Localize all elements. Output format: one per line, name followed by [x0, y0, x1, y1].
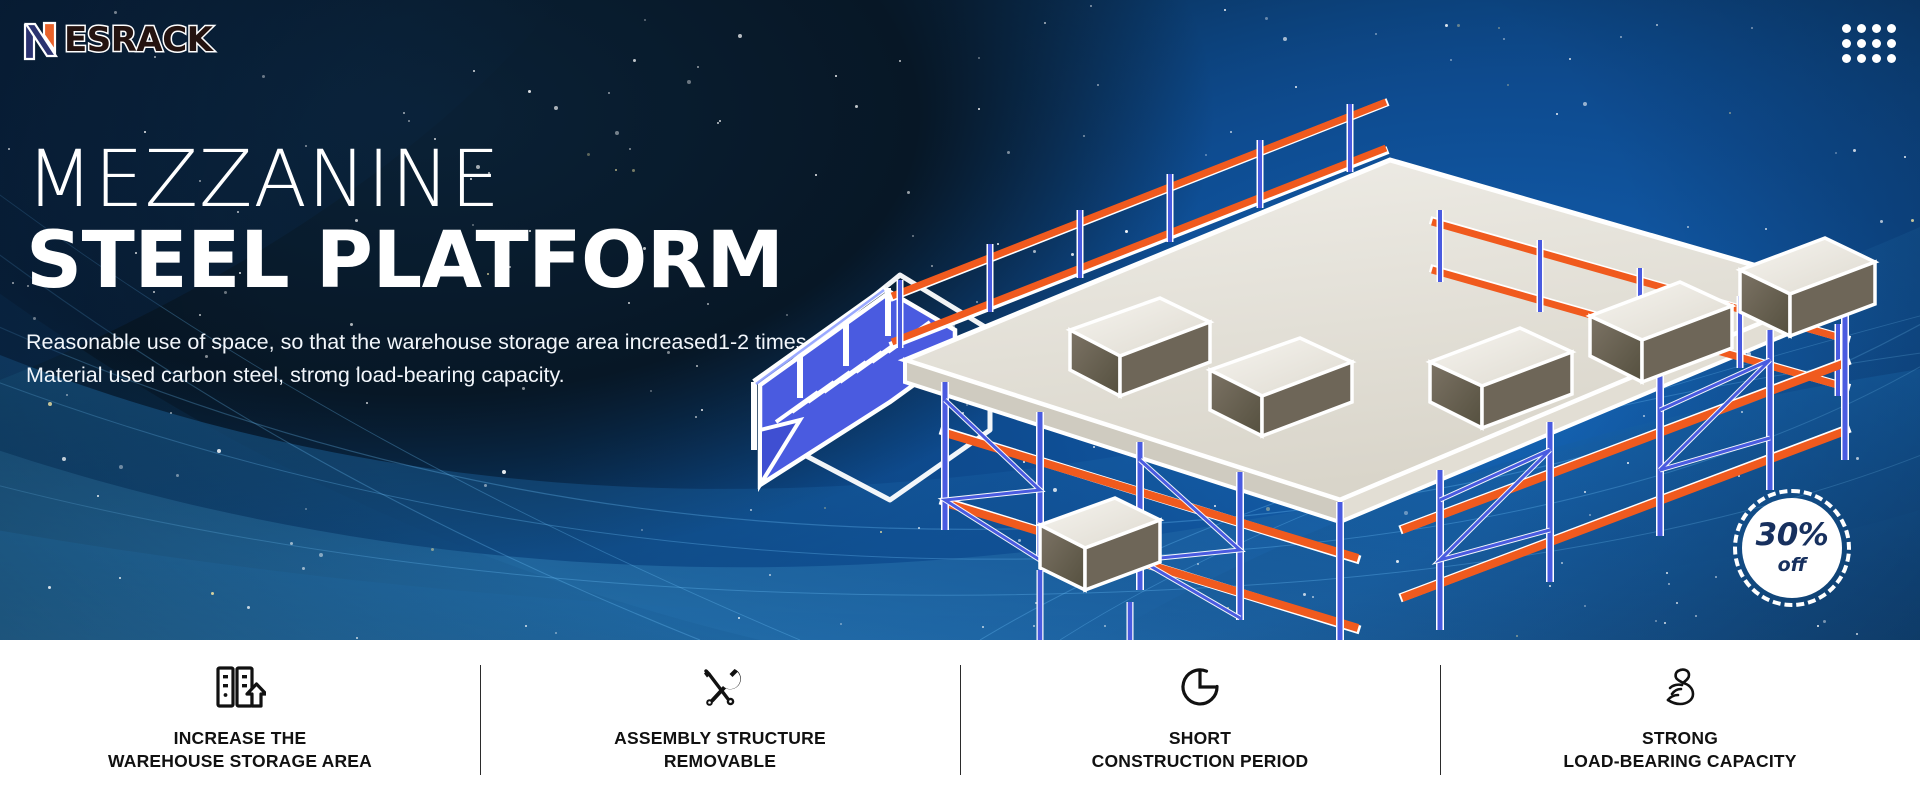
- star-dot: [119, 465, 123, 469]
- feature-item-storage-area[interactable]: INCREASE THE WAREHOUSE STORAGE AREA: [0, 640, 480, 800]
- star-dot: [8, 148, 10, 150]
- feature-label: STRONG LOAD-BEARING CAPACITY: [1563, 727, 1796, 773]
- star-dot: [12, 282, 14, 284]
- star-dot: [62, 457, 66, 461]
- star-dot: [176, 474, 179, 477]
- star-dot: [528, 90, 531, 93]
- star-dot: [302, 567, 305, 570]
- feature-item-construction-period[interactable]: SHORT CONSTRUCTION PERIOD: [960, 640, 1440, 800]
- flexed-bicep-icon: [1658, 660, 1702, 714]
- star-dot: [1911, 219, 1914, 222]
- star-dot: [1265, 17, 1268, 20]
- star-dot: [403, 112, 405, 114]
- star-dot: [695, 416, 697, 418]
- star-dot: [687, 80, 691, 84]
- badge-disc: 30% off: [1742, 498, 1842, 598]
- star-dot: [1656, 24, 1658, 26]
- feature-label: SHORT CONSTRUCTION PERIOD: [1092, 727, 1309, 773]
- star-dot: [431, 548, 434, 551]
- feature-item-load-bearing[interactable]: STRONG LOAD-BEARING CAPACITY: [1440, 640, 1920, 800]
- star-dot: [719, 120, 721, 122]
- star-dot: [554, 106, 558, 110]
- feature-label-line2: REMOVABLE: [614, 750, 826, 773]
- star-dot: [641, 529, 643, 531]
- discount-badge[interactable]: 30% off: [1733, 489, 1851, 607]
- star-dot: [48, 586, 51, 589]
- star-dot: [1445, 24, 1448, 27]
- star-dot: [66, 394, 68, 396]
- star-dot: [119, 577, 121, 579]
- star-dot: [262, 75, 265, 78]
- star-dot: [1457, 24, 1460, 27]
- feature-label: ASSEMBLY STRUCTURE REMOVABLE: [614, 727, 826, 773]
- star-dot: [555, 632, 557, 634]
- feature-label-line2: WAREHOUSE STORAGE AREA: [108, 750, 372, 773]
- wrench-screwdriver-icon: [698, 660, 742, 714]
- star-dot: [356, 637, 358, 639]
- clock-icon: [1178, 660, 1222, 714]
- feature-label-line1: STRONG: [1563, 727, 1796, 750]
- star-dot: [319, 553, 323, 557]
- badge-off-label: off: [1778, 554, 1807, 576]
- star-dot: [717, 122, 719, 124]
- star-dot: [1224, 9, 1226, 11]
- star-dot: [502, 470, 506, 474]
- star-dot: [473, 70, 475, 72]
- star-dot: [48, 402, 52, 406]
- feature-item-assembly-structure[interactable]: ASSEMBLY STRUCTURE REMOVABLE: [480, 640, 960, 800]
- star-dot: [408, 120, 410, 122]
- star-dot: [615, 131, 619, 135]
- feature-label-line1: INCREASE THE: [108, 727, 372, 750]
- star-dot: [366, 402, 368, 404]
- feature-bar: INCREASE THE WAREHOUSE STORAGE AREA ASSE…: [0, 640, 1920, 800]
- star-dot: [644, 19, 646, 21]
- star-dot: [484, 484, 487, 487]
- star-dot: [697, 66, 699, 68]
- mezzanine-steel-platform-3d-render: [740, 30, 1900, 640]
- star-dot: [217, 449, 221, 453]
- star-dot: [608, 92, 610, 94]
- star-dot: [525, 625, 527, 627]
- badge-percent: 30%: [1756, 520, 1829, 551]
- feature-label-line1: ASSEMBLY STRUCTURE: [614, 727, 826, 750]
- feature-label-line2: CONSTRUCTION PERIOD: [1092, 750, 1309, 773]
- hero-section: ESRACK MEZZANINE STEEL PLATFORM Reasonab…: [0, 0, 1920, 640]
- star-dot: [1751, 27, 1753, 29]
- star-dot: [1904, 156, 1906, 158]
- nesrack-n-monogram-icon: [22, 21, 66, 59]
- star-dot: [701, 409, 703, 411]
- warehouse-storage-increase-icon: [214, 660, 266, 714]
- star-dot: [633, 59, 636, 62]
- star-dot: [247, 606, 250, 609]
- star-dot: [1498, 27, 1500, 29]
- star-dot: [290, 542, 293, 545]
- brand-logo-text: ESRACK: [64, 21, 213, 59]
- star-dot: [114, 11, 117, 14]
- feature-label-line1: SHORT: [1092, 727, 1309, 750]
- star-dot: [97, 495, 99, 497]
- banner-stage: ESRACK MEZZANINE STEEL PLATFORM Reasonab…: [0, 0, 1920, 800]
- star-dot: [144, 131, 146, 133]
- feature-label-line2: LOAD-BEARING CAPACITY: [1563, 750, 1796, 773]
- brand-logo[interactable]: ESRACK: [22, 18, 213, 62]
- star-dot: [1044, 22, 1046, 24]
- star-dot: [305, 508, 307, 510]
- feature-label: INCREASE THE WAREHOUSE STORAGE AREA: [108, 727, 372, 773]
- star-dot: [1090, 5, 1092, 7]
- star-dot: [211, 592, 214, 595]
- star-dot: [170, 412, 172, 414]
